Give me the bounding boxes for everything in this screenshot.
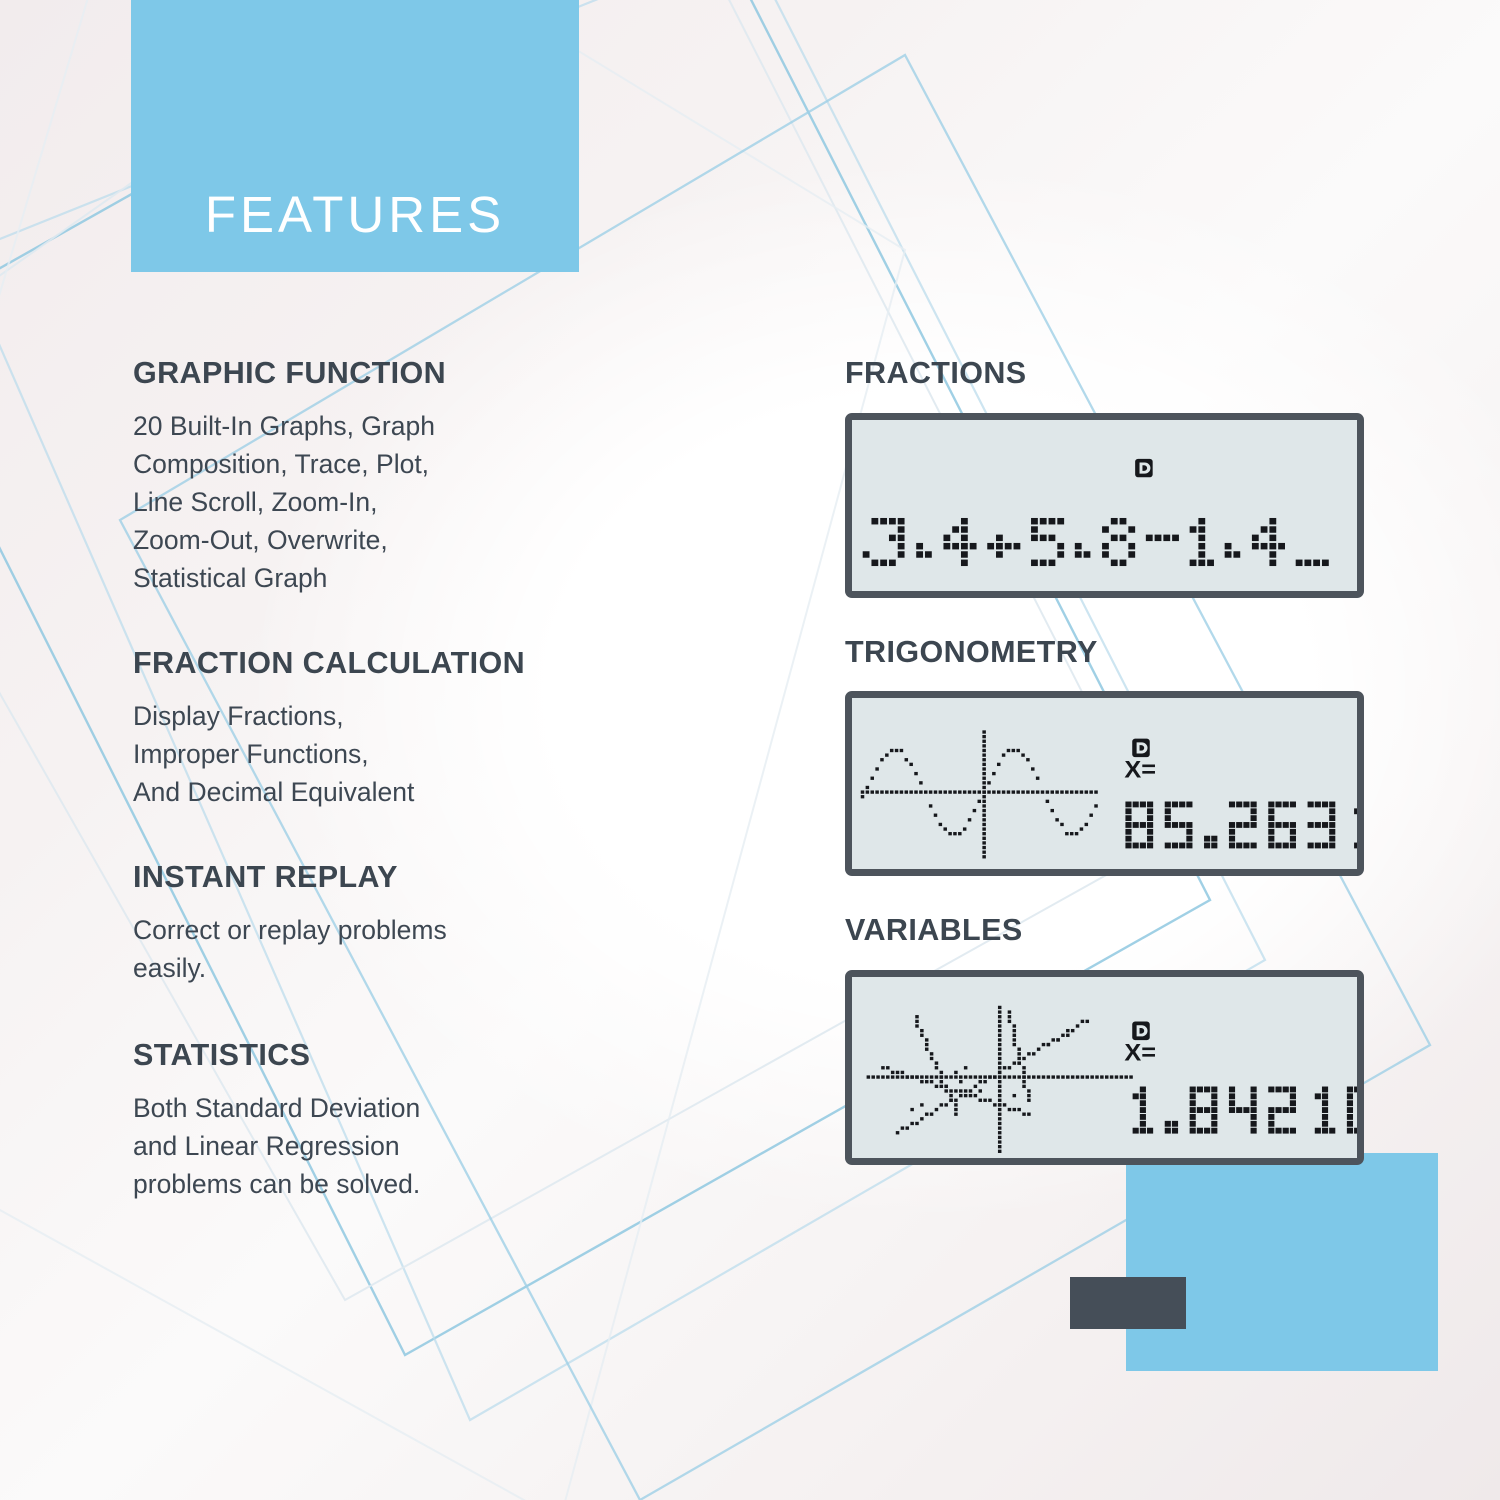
- calculator-lcd-variables: X=: [845, 970, 1364, 1165]
- calculator-lcd-fractions: [845, 413, 1364, 598]
- sine-wave-plot: [861, 730, 1098, 858]
- vars-prompt-label: X=: [1124, 1040, 1156, 1066]
- lcd-content-variables: X=: [852, 977, 1357, 1158]
- scatter-regression-plot: [867, 1005, 1133, 1152]
- features-header-banner: FEATURES: [131, 0, 579, 272]
- screen-showcase-list: FRACTIONS: [845, 357, 1385, 1203]
- accent-dark-tab: [1070, 1277, 1186, 1329]
- lcd-content-trigonometry: X=: [852, 698, 1357, 869]
- feature-title: FRACTION CALCULATION: [133, 647, 733, 681]
- expression-dot-matrix: [863, 518, 1329, 566]
- vars-display-value: [1133, 1086, 1357, 1133]
- feature-list: GRAPHIC FUNCTION 20 Built-In Graphs, Gra…: [133, 357, 733, 1247]
- feature-item-graphic-function: GRAPHIC FUNCTION 20 Built-In Graphs, Gra…: [133, 357, 733, 597]
- lcd-content-fractions: [852, 420, 1357, 591]
- feature-body: Correct or replay problems easily.: [133, 911, 733, 987]
- screen-title: TRIGONOMETRY: [845, 636, 1385, 670]
- feature-body: Display Fractions, Improper Functions, A…: [133, 697, 733, 811]
- feature-item-instant-replay: INSTANT REPLAY Correct or replay problem…: [133, 861, 733, 987]
- screen-title: VARIABLES: [845, 914, 1385, 948]
- infographic-page: FEATURES GRAPHIC FUNCTION 20 Built-In Gr…: [0, 0, 1500, 1500]
- screen-item-variables: VARIABLES X=: [845, 914, 1385, 1165]
- screen-item-trigonometry: TRIGONOMETRY X=: [845, 636, 1385, 877]
- feature-item-statistics: STATISTICS Both Standard Deviation and L…: [133, 1039, 733, 1203]
- mode-indicator-d-icon: [1132, 739, 1150, 757]
- feature-item-fraction-calculation: FRACTION CALCULATION Display Fractions, …: [133, 647, 733, 811]
- feature-body: 20 Built-In Graphs, Graph Composition, T…: [133, 407, 733, 598]
- calculator-lcd-trigonometry: X=: [845, 691, 1364, 876]
- feature-title: GRAPHIC FUNCTION: [133, 357, 733, 391]
- page-title: FEATURES: [131, 185, 579, 244]
- screen-title: FRACTIONS: [845, 357, 1385, 391]
- trig-prompt-label: X=: [1124, 757, 1156, 783]
- feature-title: INSTANT REPLAY: [133, 861, 733, 895]
- mode-indicator-d-icon: [1135, 458, 1153, 476]
- trig-display-value: [1125, 802, 1357, 849]
- feature-body: Both Standard Deviation and Linear Regre…: [133, 1089, 733, 1203]
- mode-indicator-d-icon: [1132, 1021, 1150, 1040]
- feature-title: STATISTICS: [133, 1039, 733, 1073]
- screen-item-fractions: FRACTIONS: [845, 357, 1385, 598]
